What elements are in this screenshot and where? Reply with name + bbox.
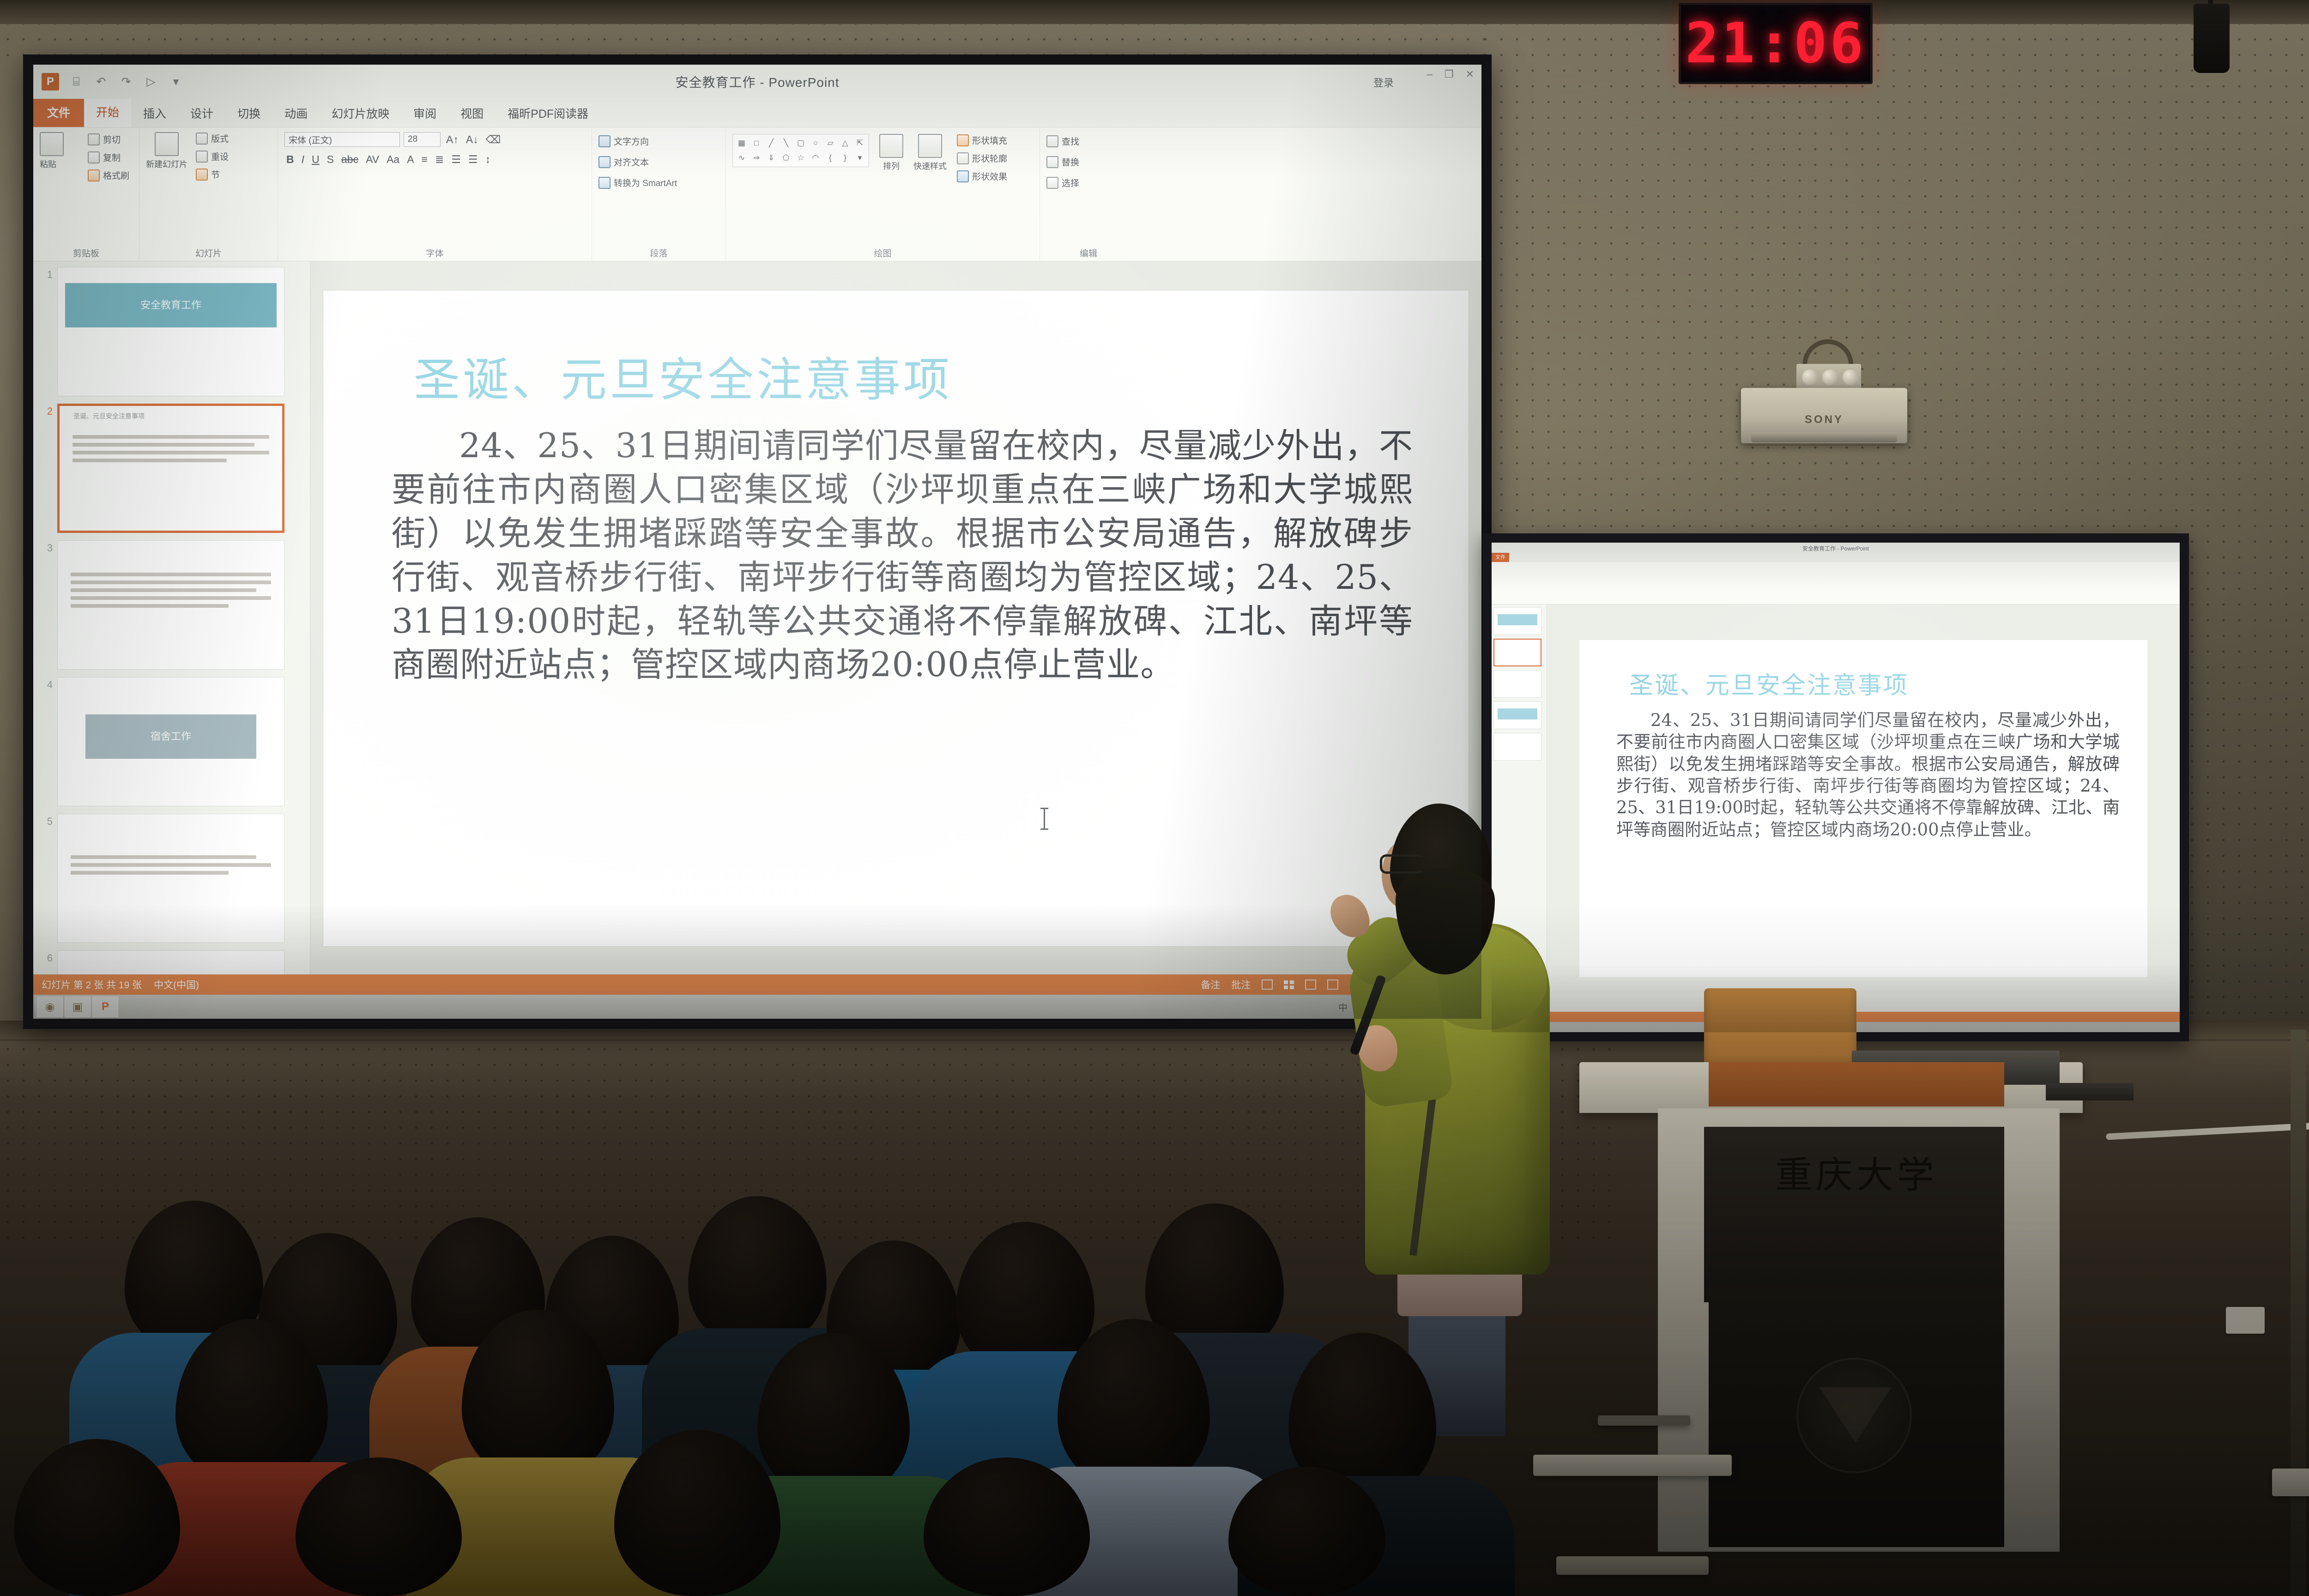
thumbnail-number-3: 3 — [36, 540, 57, 554]
layout-icon — [196, 133, 208, 145]
slide-thumbnail-5[interactable] — [57, 814, 284, 943]
whiteboard-slide-title: 圣诞、元旦安全注意事项 — [1629, 666, 1909, 701]
search-icon — [1046, 135, 1058, 147]
shape-effects-icon — [957, 170, 969, 182]
paintbrush-icon — [88, 169, 100, 181]
shape-effects-label: 形状效果 — [972, 170, 1007, 182]
audience — [0, 1180, 1644, 1596]
shape-textbox-icon[interactable]: ▦ — [735, 136, 749, 150]
slide-thumbnail-1[interactable]: 安全教育工作 — [57, 267, 284, 396]
clear-formatting-icon[interactable]: ⌫ — [484, 133, 503, 146]
shape-fill-label: 形状填充 — [972, 134, 1007, 146]
thumbnail-title-1: 安全教育工作 — [65, 283, 277, 327]
thumbnail-number-6: 6 — [36, 950, 57, 964]
format-painter-button[interactable]: 格式刷 — [88, 169, 129, 181]
slide-thumbnail-6[interactable] — [57, 950, 284, 975]
slide-body-text[interactable]: 24、25、31日期间请同学们尽量留在校内，尽量减少外出，不要前往市内商圈人口密… — [392, 424, 1413, 687]
whiteboard-thumb-4 — [1493, 701, 1541, 729]
arrange-label: 排列 — [883, 160, 900, 172]
clock-time: 21:06 — [1685, 12, 1866, 76]
thumbnail-caption-2: 圣诞、元旦安全注意事项 — [73, 411, 145, 421]
bold-button[interactable]: B — [284, 153, 296, 166]
thumbnail-number-1: 1 — [36, 267, 57, 281]
glasses-icon — [1380, 854, 1424, 874]
reset-icon — [196, 151, 208, 163]
thumbnail-line — [73, 459, 227, 462]
language-indicator[interactable]: 中文(中国) — [154, 978, 199, 991]
projector-knob-3 — [1843, 369, 1858, 385]
tab-foxit-pdf[interactable]: 福昕PDF阅读器 — [496, 98, 600, 127]
slide-sorter-view-icon[interactable] — [1284, 980, 1294, 989]
change-case-button[interactable]: Aa — [385, 153, 401, 166]
arrange-icon — [879, 134, 903, 158]
thumbnail-row-2[interactable]: 2 圣诞、元旦安全注意事项 — [36, 404, 305, 533]
projection-screen-surface: P ⌸ ↶ ↷ ▷ ▾ 安全教育工作 - PowerPoint 登录 – ❐ ✕ — [33, 65, 1481, 1019]
taskbar-explorer-icon[interactable]: ▣ — [65, 997, 91, 1017]
tab-review[interactable]: 审阅 — [401, 98, 448, 127]
group-label-editing: 编辑 — [1040, 247, 1137, 259]
whiteboard-surface: 安全教育工作 - PowerPoint 文件 圣诞、元旦安全注意事项 24、25 — [1492, 543, 2180, 1032]
slide-thumbnail-2[interactable]: 圣诞、元旦安全注意事项 — [57, 404, 284, 533]
shape-effects-button[interactable]: 形状效果 — [957, 170, 1007, 182]
shape-diagonal-icon[interactable]: ╲ — [779, 136, 793, 150]
tab-file[interactable]: 文件 — [33, 97, 84, 127]
thumbnail-line — [73, 435, 269, 439]
shape-fill-button[interactable]: 形状填充 — [957, 134, 1007, 146]
paste-label[interactable]: 粘贴 — [40, 158, 56, 170]
status-bar[interactable]: 幻灯片 第 2 张 共 19 张 中文(中国) 备注 批注 − + — [33, 974, 1481, 995]
format-painter-label: 格式刷 — [103, 169, 129, 181]
thumbnail-row-6[interactable]: 6 — [36, 950, 305, 975]
find-button[interactable]: 查找 — [1046, 135, 1130, 147]
shape-outline-button[interactable]: 形状轮廓 — [957, 152, 1007, 164]
copy-label: 复制 — [103, 151, 121, 163]
sign-in-button[interactable]: 登录 — [1373, 75, 1394, 90]
thumbnail-line — [73, 443, 254, 447]
group-label-drawing: 绘图 — [726, 247, 1040, 259]
layout-button[interactable]: 版式 — [196, 132, 229, 145]
align-left-icon[interactable]: ☰ — [449, 153, 463, 166]
taskbar-browser-icon[interactable]: ◉ — [37, 997, 63, 1017]
shape-arrow-right-icon[interactable]: ⇒ — [750, 151, 763, 165]
convert-smartart-label: 转换为 SmartArt — [614, 176, 677, 189]
bullets-icon[interactable]: ≡ — [420, 153, 429, 166]
convert-smartart-button[interactable]: 转换为 SmartArt — [598, 176, 719, 189]
comments-button[interactable]: 批注 — [1231, 978, 1251, 991]
shape-arrow-down-icon[interactable]: ⇓ — [764, 151, 778, 165]
quick-styles-button[interactable]: 快速样式 — [913, 134, 947, 172]
minimize-icon[interactable]: – — [1427, 68, 1433, 80]
thumbnail-line — [71, 871, 229, 875]
smartart-icon — [598, 177, 610, 189]
section-icon — [196, 169, 208, 181]
whiteboard-thumb-3 — [1493, 670, 1541, 698]
character-spacing-button[interactable]: AV — [364, 153, 381, 166]
whiteboard-ribbon — [1492, 562, 2180, 605]
shape-brace-left-icon[interactable]: { — [823, 151, 837, 165]
select-icon — [1046, 177, 1058, 189]
slide-counter: 幻灯片 第 2 张 共 19 张 — [42, 978, 142, 991]
ribbon-group-font: 宋体 (正文) 28 A↑ A↓ ⌫ B I U S abc AV — [278, 127, 592, 261]
whiteboard-titlebar: 安全教育工作 - PowerPoint — [1492, 543, 2180, 553]
ribbon-tabs[interactable]: 文件 开始 插入 设计 切换 动画 幻灯片放映 审阅 视图 福昕PDF阅读器 — [33, 99, 1481, 127]
tab-home[interactable]: 开始 — [84, 97, 131, 127]
university-seal-icon — [1796, 1358, 1912, 1473]
shape-arrow-icon[interactable]: ⇱ — [853, 136, 867, 150]
whiteboard-thumb-2 — [1493, 639, 1541, 666]
windows-taskbar[interactable]: ◉ ▣ P 中 ⌨ ? ▴ ▲ ◂ ⛉ 21:06 2016 — [33, 995, 1481, 1019]
shape-callout-icon[interactable]: ◠ — [809, 151, 822, 165]
copy-icon — [88, 151, 100, 163]
right-wall-post — [2291, 1030, 2306, 1596]
document-title: 安全教育工作 - PowerPoint — [33, 73, 1481, 91]
new-slide-icon — [155, 132, 179, 156]
shape-line-icon[interactable]: ╱ — [764, 136, 778, 150]
slide-title[interactable]: 圣诞、元旦安全注意事项 — [414, 342, 952, 409]
thumbnail-line — [71, 580, 271, 584]
reset-label: 重设 — [211, 150, 229, 163]
av-equipment-box-small — [2046, 1083, 2134, 1100]
slide-thumbnail-3[interactable] — [57, 540, 284, 670]
thumbnail-row-1[interactable]: 1 安全教育工作 — [36, 267, 305, 396]
strikethrough-button[interactable]: abc — [339, 153, 360, 166]
ribbon-group-drawing: ▦ □ ╱ ╲ ▢ ○ ▱ △ ⇱ ∿ ⇒ ⇓ — [726, 127, 1040, 261]
wall-power-socket — [2226, 1307, 2265, 1334]
whiteboard-thumb-5 — [1493, 733, 1541, 761]
find-label: 查找 — [1062, 135, 1079, 147]
taskbar-powerpoint-icon[interactable]: P — [92, 997, 118, 1017]
shape-pentagon-icon[interactable]: ⬠ — [779, 151, 793, 165]
paste-icon[interactable] — [40, 132, 64, 156]
powerpoint-window[interactable]: P ⌸ ↶ ↷ ▷ ▾ 安全教育工作 - PowerPoint 登录 – ❐ ✕ — [33, 65, 1481, 1019]
projector-knob-2 — [1822, 369, 1838, 385]
select-label: 选择 — [1062, 176, 1079, 189]
lectern-calligraphy: 重庆大学 — [1709, 1145, 2004, 1199]
student-desk-far-right — [2272, 1469, 2309, 1496]
lectern-wood-trim — [1709, 1062, 2004, 1106]
ribbon-group-clipboard: 粘贴 剪切 复制 格式刷 剪贴板 — [33, 127, 139, 261]
lecture-hall-scene: 21:06 SONY P ⌸ ↶ ↷ ▷ ▾ — [0, 0, 2309, 1596]
whiteboard-slide-body: 24、25、31日期间请同学们尽量留在校内，尽量减少外出，不要前往市内商圈人口密… — [1616, 709, 2120, 840]
align-text-icon — [598, 156, 610, 168]
wall-speaker — [2194, 4, 2230, 73]
group-label-paragraph: 段落 — [592, 247, 725, 259]
current-slide[interactable]: 圣诞、元旦安全注意事项 24、25、31日期间请同学们尽量留在校内，尽量减少外出… — [323, 290, 1469, 946]
projector-brand-label: SONY — [1741, 413, 1907, 426]
normal-view-icon[interactable] — [1262, 979, 1273, 990]
thumbnail-line — [71, 604, 229, 608]
decrease-font-icon[interactable]: A↓ — [464, 133, 480, 146]
shape-curve-icon[interactable]: ∿ — [735, 151, 749, 165]
whiteboard-slide-pane: 圣诞、元旦安全注意事项 24、25、31日期间请同学们尽量留在校内，尽量减少外出… — [1547, 605, 2180, 1013]
cut-button[interactable]: 剪切 — [88, 133, 129, 145]
powerpoint-titlebar: P ⌸ ↶ ↷ ▷ ▾ 安全教育工作 - PowerPoint 登录 – ❐ ✕ — [33, 65, 1481, 99]
ribbon-group-paragraph: 文字方向 对齐文本 转换为 SmartArt 段落 — [592, 127, 726, 261]
thumbnail-line — [71, 588, 256, 592]
tab-insert[interactable]: 插入 — [131, 98, 178, 127]
shapes-gallery[interactable]: ▦ □ ╱ ╲ ▢ ○ ▱ △ ⇱ ∿ ⇒ ⇓ — [732, 134, 869, 167]
wall-clock: 21:06 — [1679, 3, 1873, 84]
restore-icon[interactable]: ❐ — [1445, 68, 1454, 80]
numbering-icon[interactable]: ≣ — [433, 153, 446, 166]
shape-roundrect-icon[interactable]: ▱ — [823, 136, 837, 150]
thumbnail-line — [73, 451, 269, 454]
projector-knob-1 — [1802, 369, 1818, 385]
align-center-icon[interactable]: ☰ — [466, 153, 480, 166]
shape-fill-icon — [957, 134, 969, 146]
window-controls[interactable]: – ❐ ✕ — [1427, 68, 1474, 80]
thumbnail-title-band-1: 安全教育工作 — [65, 283, 277, 327]
new-slide-button[interactable]: 新建幻灯片 — [146, 132, 187, 181]
font-name-input[interactable]: 宋体 (正文) — [284, 132, 400, 147]
slide-thumbnail-4[interactable]: 宿舍工作 — [57, 677, 284, 806]
section-label: 节 — [211, 168, 220, 181]
thumbnail-title-band-4: 宿舍工作 — [85, 714, 256, 759]
text-cursor — [1044, 808, 1045, 830]
projection-screen: P ⌸ ↶ ↷ ▷ ▾ 安全教育工作 - PowerPoint 登录 – ❐ ✕ — [23, 54, 1492, 1029]
quick-styles-icon — [918, 134, 942, 158]
copy-button[interactable]: 复制 — [88, 151, 129, 163]
tab-animations[interactable]: 动画 — [272, 98, 320, 127]
increase-font-icon[interactable]: A↑ — [444, 133, 460, 146]
projector-lens — [1751, 432, 1897, 442]
new-slide-label: 新建幻灯片 — [146, 158, 187, 170]
shape-triangle-icon[interactable]: △ — [838, 136, 852, 150]
close-icon[interactable]: ✕ — [1466, 68, 1474, 80]
text-direction-label: 文字方向 — [614, 135, 649, 147]
thumbnail-line — [71, 573, 271, 576]
text-direction-icon — [598, 135, 610, 147]
ime-icon[interactable]: 中 — [1338, 1002, 1348, 1012]
audience-head — [688, 1196, 827, 1348]
section-button[interactable]: 节 — [196, 168, 229, 181]
replace-label: 替换 — [1062, 156, 1079, 168]
slide-editor-pane[interactable]: 圣诞、元旦安全注意事项 24、25、31日期间请同学们尽量留在校内，尽量减少外出… — [310, 261, 1481, 975]
text-shadow-button[interactable]: S — [325, 153, 336, 166]
shape-square-icon[interactable]: ▢ — [794, 136, 808, 150]
thumbnail-title-4: 宿舍工作 — [85, 714, 256, 759]
layout-label: 版式 — [211, 132, 229, 145]
slide-thumbnail-pane[interactable]: 1 安全教育工作 2 圣诞、元旦安全注意事项 — [33, 261, 310, 975]
thumbnail-number-4: 4 — [36, 677, 57, 691]
thumbnail-number-5: 5 — [36, 814, 57, 828]
group-label-font: 字体 — [278, 247, 592, 259]
tab-design[interactable]: 设计 — [178, 98, 225, 127]
replace-button[interactable]: 替换 — [1046, 156, 1130, 168]
ribbon[interactable]: 粘贴 剪切 复制 格式刷 剪贴板 — [33, 127, 1481, 261]
shape-star-icon[interactable]: ☆ — [794, 151, 808, 165]
whiteboard-workspace: 圣诞、元旦安全注意事项 24、25、31日期间请同学们尽量留在校内，尽量减少外出… — [1492, 605, 2180, 1013]
font-color-button[interactable]: A — [405, 153, 416, 166]
reset-button[interactable]: 重设 — [196, 150, 229, 163]
shape-brace-right-icon[interactable]: } — [838, 151, 852, 165]
whiteboard-slide: 圣诞、元旦安全注意事项 24、25、31日期间请同学们尽量留在校内，尽量减少外出… — [1579, 640, 2147, 977]
thumbnail-line — [71, 863, 271, 867]
notes-button[interactable]: 备注 — [1201, 978, 1220, 991]
align-text-label: 对齐文本 — [614, 156, 649, 168]
interactive-whiteboard[interactable]: 安全教育工作 - PowerPoint 文件 圣诞、元旦安全注意事项 24、25 — [1482, 533, 2189, 1041]
italic-button[interactable]: I — [300, 153, 306, 166]
ribbon-group-slides: 新建幻灯片 版式 重设 节 幻灯片 — [139, 127, 278, 261]
tab-slideshow[interactable]: 幻灯片放映 — [320, 98, 401, 127]
ribbon-group-editing: 查找 替换 选择 编辑 — [1040, 127, 1137, 261]
group-label-clipboard: 剪贴板 — [33, 247, 139, 259]
tab-view[interactable]: 视图 — [448, 98, 496, 127]
powerpoint-workspace: 1 安全教育工作 2 圣诞、元旦安全注意事项 — [33, 261, 1481, 975]
whiteboard-doc-title: 安全教育工作 - PowerPoint — [1492, 543, 2180, 552]
text-direction-button[interactable]: 文字方向 — [598, 135, 719, 147]
line-spacing-icon[interactable]: ↕ — [484, 153, 493, 166]
replace-icon — [1046, 156, 1058, 168]
slideshow-view-icon[interactable] — [1327, 979, 1338, 990]
scissors-icon — [88, 133, 100, 145]
group-label-slides: 幻灯片 — [139, 247, 278, 259]
whiteboard-ribbon-tabs: 文件 — [1492, 553, 2180, 562]
tab-transitions[interactable]: 切换 — [225, 98, 272, 127]
shape-more-icon[interactable]: ▾ — [853, 151, 867, 165]
thumbnail-row-4[interactable]: 4 宿舍工作 — [36, 677, 305, 806]
ceiling-strip — [0, 0, 2309, 24]
reading-view-icon[interactable] — [1305, 979, 1316, 990]
quick-styles-label: 快速样式 — [913, 160, 947, 172]
whiteboard-thumb-1 — [1493, 607, 1541, 635]
align-text-button[interactable]: 对齐文本 — [598, 156, 719, 168]
select-button[interactable]: 选择 — [1046, 176, 1130, 189]
font-size-input[interactable]: 28 — [404, 132, 441, 147]
thumbnail-row-3[interactable]: 3 — [36, 540, 305, 670]
thumbnail-row-5[interactable]: 5 — [36, 814, 305, 943]
cut-label: 剪切 — [103, 133, 121, 145]
shape-outline-icon — [957, 152, 969, 164]
shape-outline-label: 形状轮廓 — [972, 152, 1007, 164]
shape-rect-icon[interactable]: □ — [750, 136, 763, 150]
thumbnail-line — [71, 855, 256, 859]
thumbnail-number-2: 2 — [36, 404, 57, 417]
whiteboard-tab-file: 文件 — [1492, 553, 1509, 562]
arrange-button[interactable]: 排列 — [879, 134, 903, 172]
shape-circle-icon[interactable]: ○ — [809, 136, 822, 150]
thumbnail-line — [71, 596, 271, 600]
underline-button[interactable]: U — [310, 153, 321, 166]
